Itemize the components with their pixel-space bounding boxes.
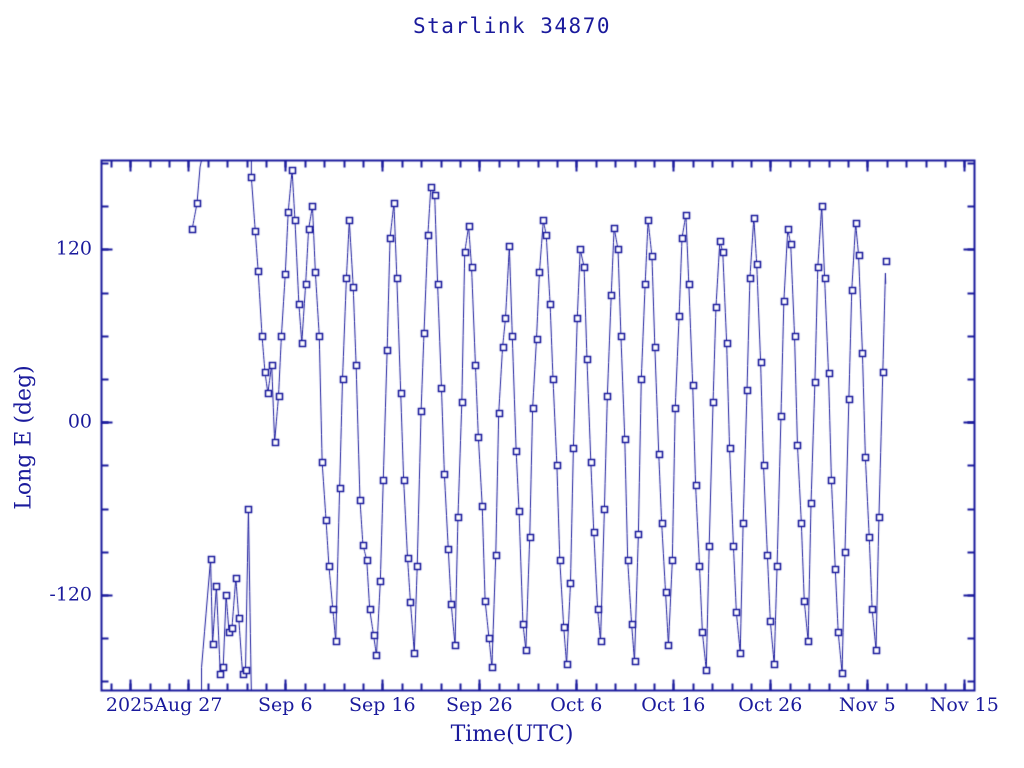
- x-tick-label: Oct 6: [550, 696, 602, 715]
- x-tick-label: 2025: [106, 696, 154, 715]
- x-tick-label: Sep 6: [258, 696, 313, 715]
- x-tick-label: Oct 26: [738, 696, 802, 715]
- x-tick-label: Nov 5: [839, 696, 896, 715]
- chart-figure: Starlink 34870 2025Aug 27Sep 6Sep 16Sep …: [0, 0, 1024, 768]
- x-tick-label: Sep 26: [446, 696, 513, 715]
- x-tick-label: Oct 16: [641, 696, 705, 715]
- x-tick-label: Sep 16: [349, 696, 416, 715]
- x-axis-title: Time(UTC): [0, 722, 1024, 747]
- y-tick-label: -120: [0, 585, 92, 604]
- y-tick-label: 120: [0, 240, 92, 259]
- x-tick-label: Nov 15: [930, 696, 999, 715]
- y-axis-title: Long E (deg): [12, 328, 37, 548]
- chart-plot-canvas: [0, 0, 1024, 768]
- x-tick-label: Aug 27: [154, 696, 222, 715]
